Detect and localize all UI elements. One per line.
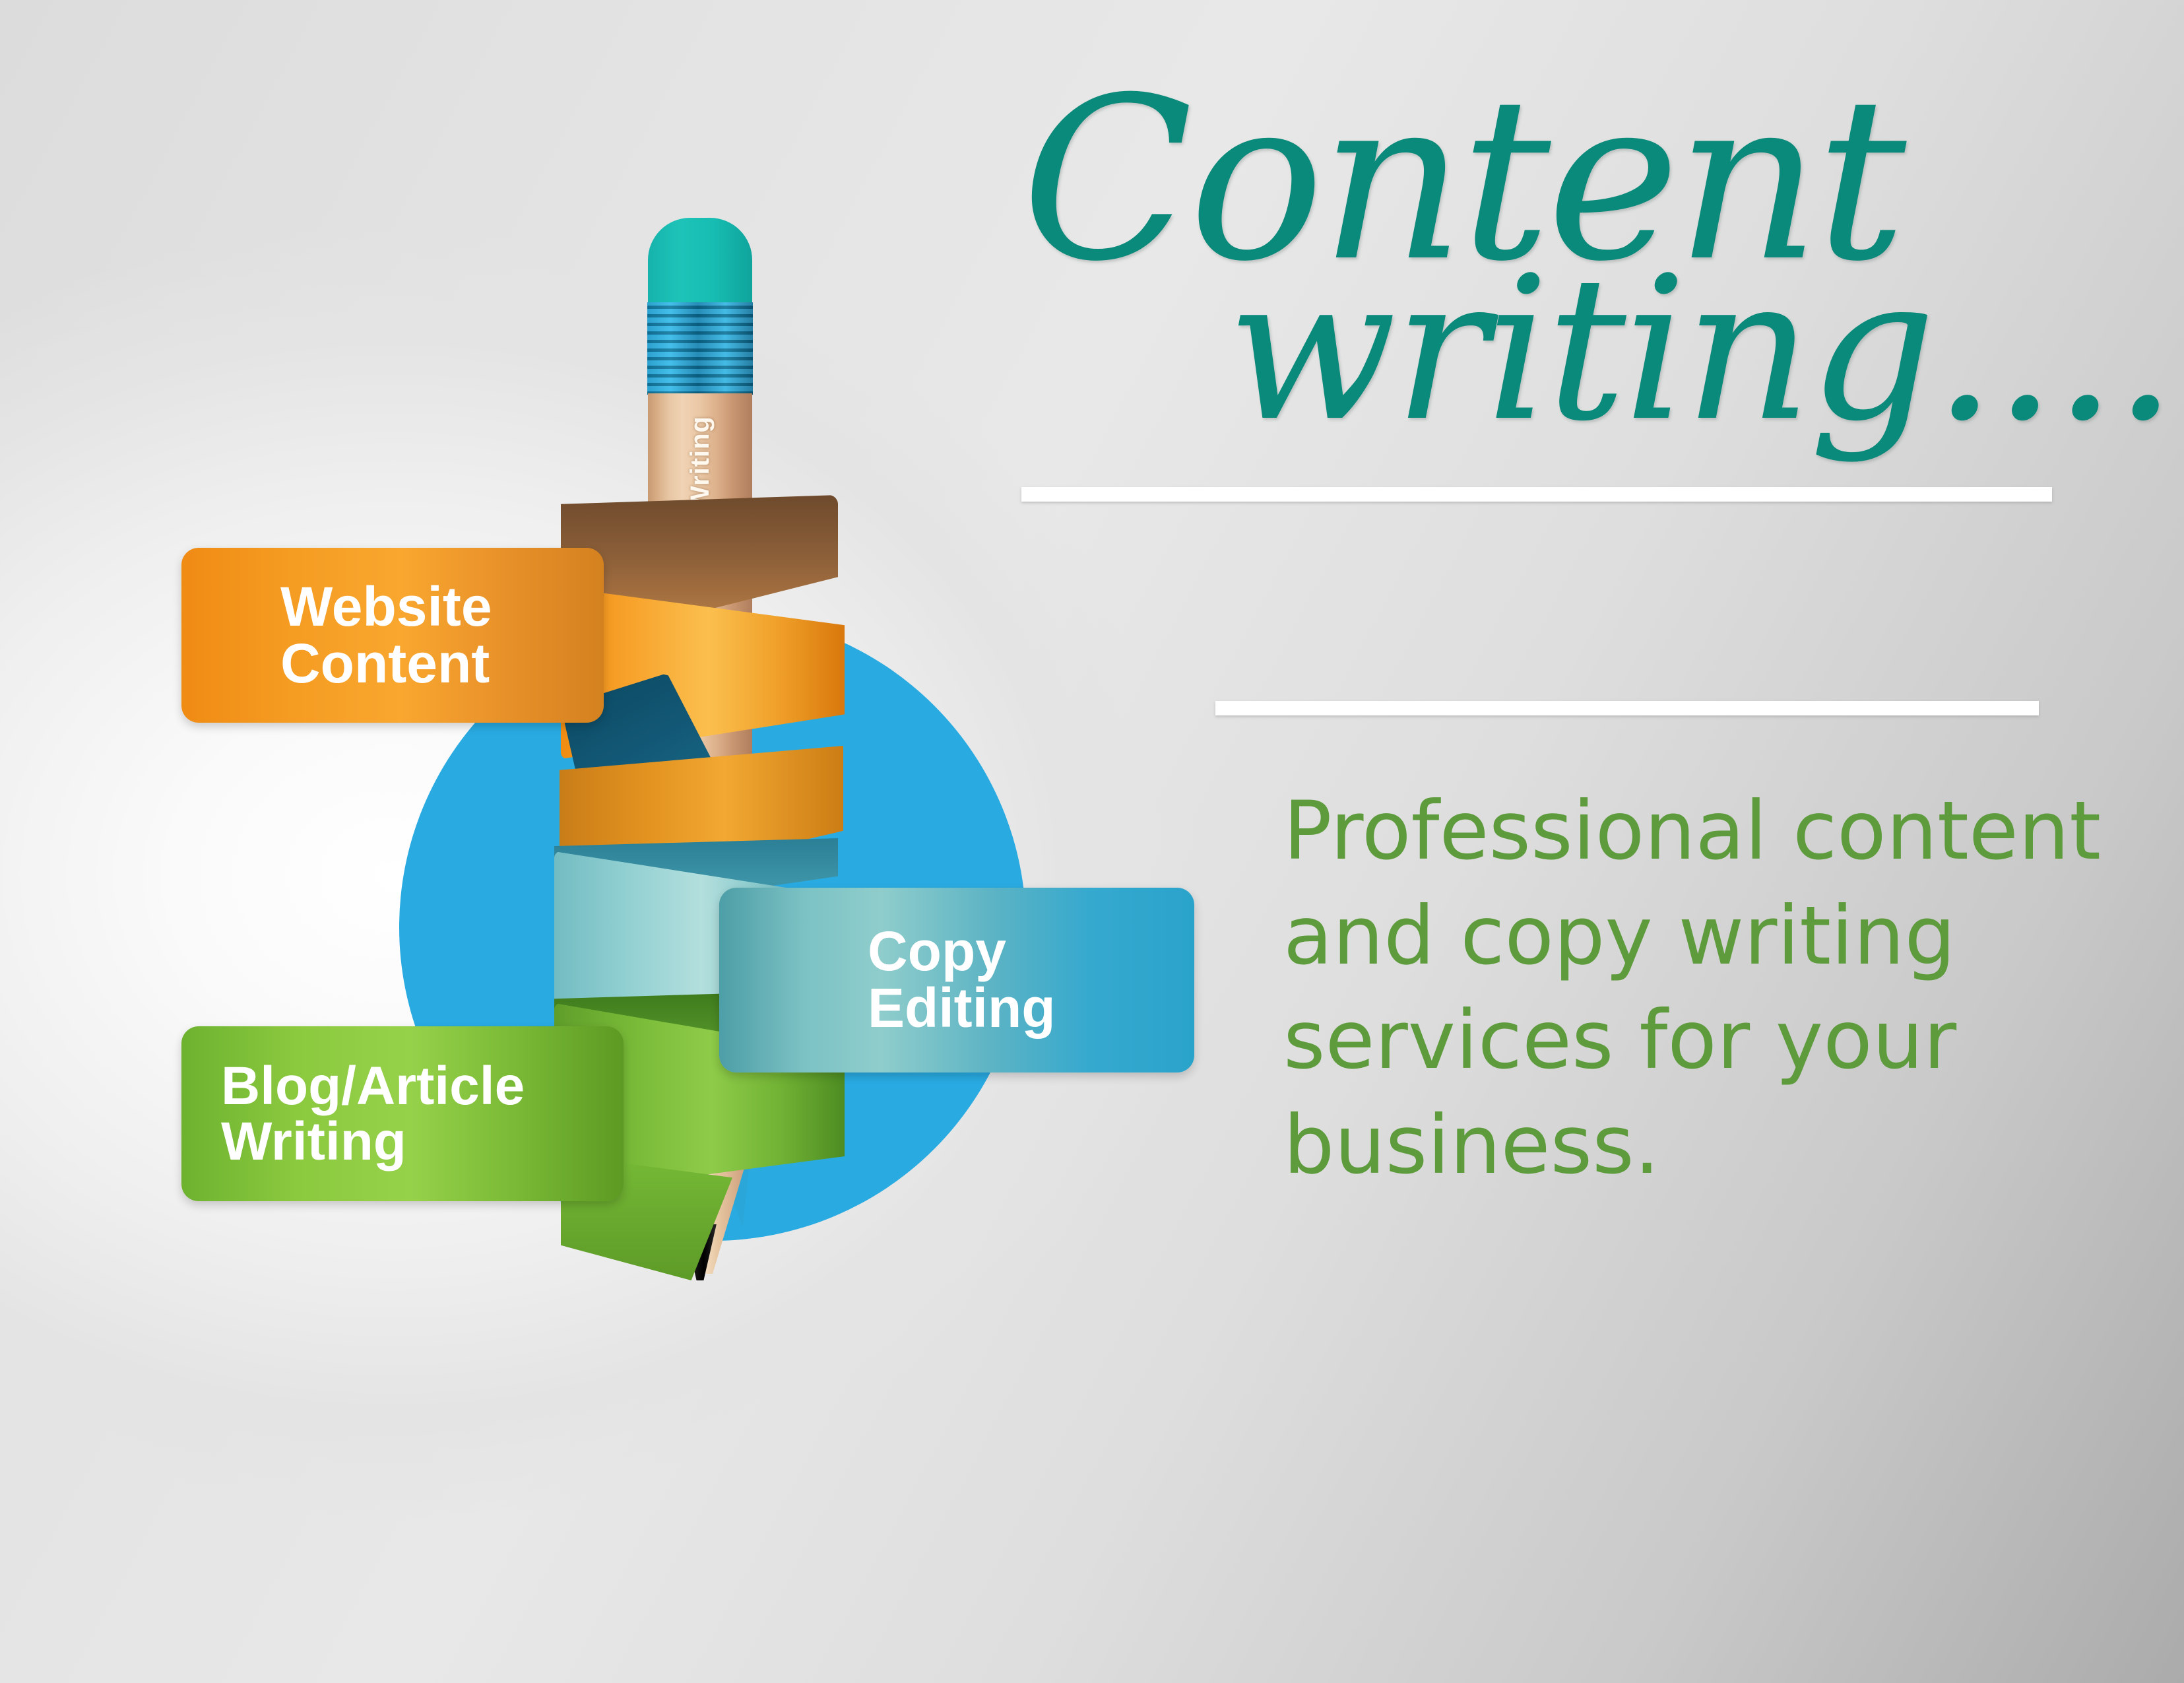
pencil-ferrule-icon: [647, 302, 753, 395]
label-website-content-line2: Content: [280, 636, 604, 692]
headline-underline-1: [1021, 487, 2052, 502]
label-website-content-line1: Website: [280, 579, 604, 636]
body-copy-text: Professional content and copy writing se…: [1283, 779, 2115, 1197]
headline-underline-2: [1215, 701, 2039, 715]
pencil-eraser-icon: [648, 218, 752, 307]
headline-line-2: writing....: [1227, 234, 2174, 465]
poster-canvas: Content Writing Website Content Blog/Art…: [0, 0, 2184, 1683]
label-blog-article-writing[interactable]: Blog/Article Writing: [181, 1026, 624, 1201]
label-blog-article-writing-line2: Writing: [221, 1114, 624, 1170]
headline-panel: Content writing.... Professional content…: [990, 0, 2184, 1683]
label-blog-article-writing-line1: Blog/Article: [221, 1059, 624, 1114]
label-website-content[interactable]: Website Content: [181, 548, 604, 723]
body-copy: Professional content and copy writing se…: [1283, 779, 2115, 1197]
